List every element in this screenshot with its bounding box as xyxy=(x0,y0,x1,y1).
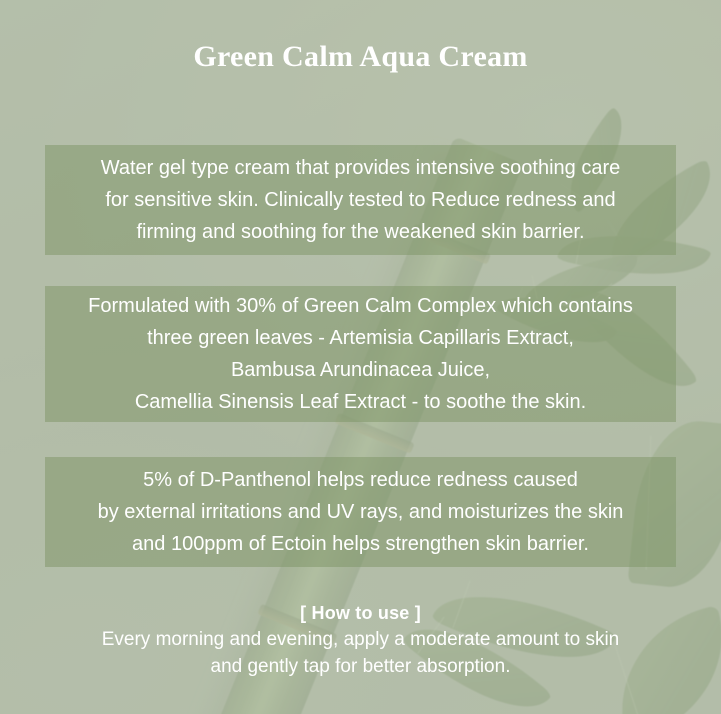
ingredients-band: Formulated with 30% of Green Calm Comple… xyxy=(45,286,676,422)
benefits-line: 5% of D-Panthenol helps reduce redness c… xyxy=(45,464,676,496)
benefits-band: 5% of D-Panthenol helps reduce redness c… xyxy=(45,457,676,567)
product-detail-page: Green Calm Aqua Cream Water gel type cre… xyxy=(0,0,721,714)
ingredients-line: Formulated with 30% of Green Calm Comple… xyxy=(45,290,676,322)
how-to-use-line: Every morning and evening, apply a moder… xyxy=(0,626,721,653)
ingredients-line: three green leaves - Artemisia Capillari… xyxy=(45,322,676,354)
benefits-line: by external irritations and UV rays, and… xyxy=(45,496,676,528)
description-line: Water gel type cream that provides inten… xyxy=(45,152,676,184)
description-line: firming and soothing for the weakened sk… xyxy=(45,216,676,248)
benefits-line: and 100ppm of Ectoin helps strengthen sk… xyxy=(45,528,676,560)
page-title: Green Calm Aqua Cream xyxy=(0,40,721,74)
how-to-use-section: [ How to use ] Every morning and evening… xyxy=(0,600,721,680)
ingredients-line: Camellia Sinensis Leaf Extract - to soot… xyxy=(45,386,676,418)
ingredients-line: Bambusa Arundinacea Juice, xyxy=(45,354,676,386)
description-band: Water gel type cream that provides inten… xyxy=(45,145,676,255)
how-to-use-line: and gently tap for better absorption. xyxy=(0,653,721,680)
how-to-use-heading: [ How to use ] xyxy=(0,600,721,626)
description-line: for sensitive skin. Clinically tested to… xyxy=(45,184,676,216)
page-content: Green Calm Aqua Cream Water gel type cre… xyxy=(0,0,721,714)
